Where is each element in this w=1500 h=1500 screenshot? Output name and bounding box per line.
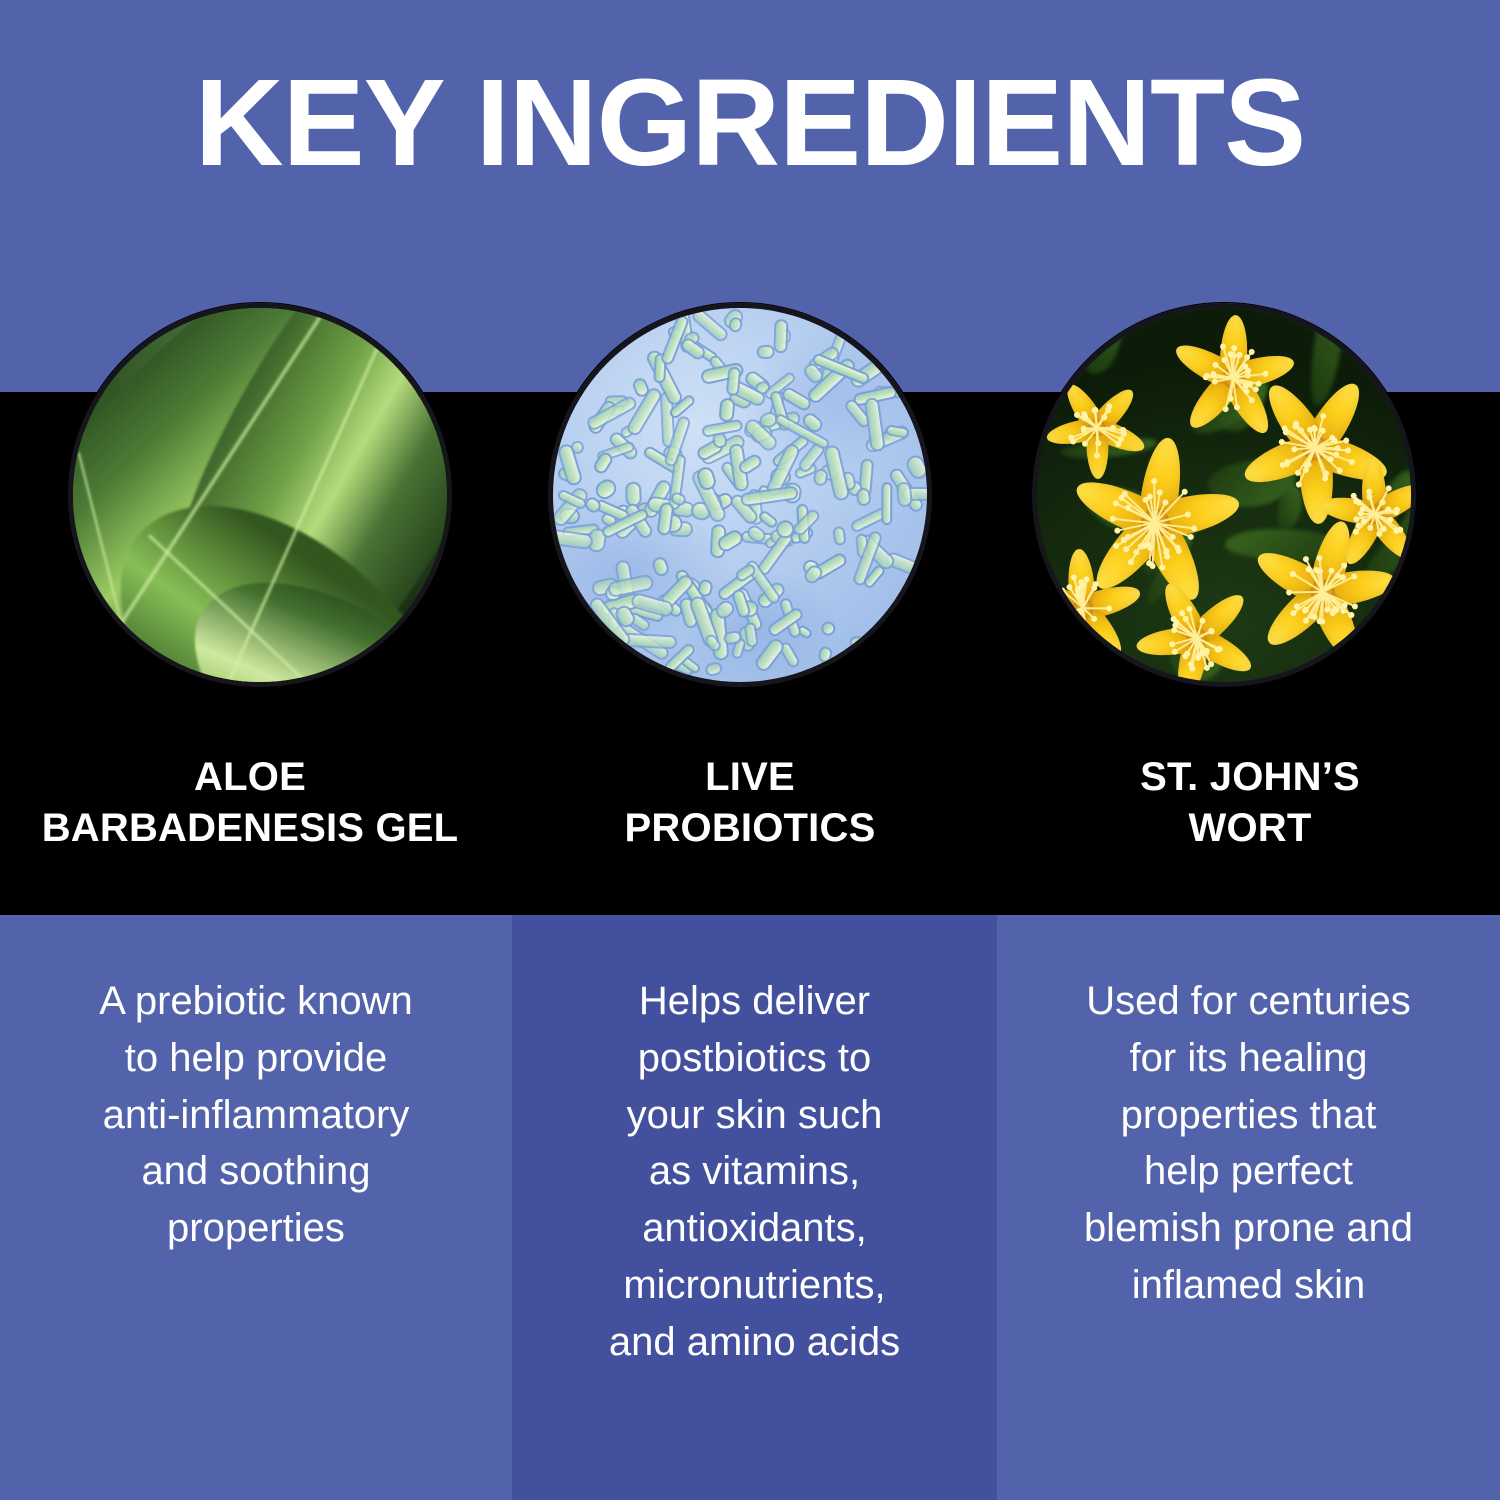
description-text-wort: Used for centuries for its healing prope…	[1084, 973, 1413, 1500]
ingredient-name-cell-wort: ST. JOHN’S WORT	[1000, 752, 1500, 915]
bacteria-cell	[756, 344, 774, 358]
ingredient-names-row: ALOE BARBADENESIS GEL LIVE PROBIOTICS ST…	[0, 752, 1500, 915]
description-panel-aloe: A prebiotic known to help provide anti-i…	[0, 915, 512, 1500]
key-ingredients-infographic: KEY INGREDIENTS	[0, 0, 1500, 1500]
ingredient-descriptions-row: A prebiotic known to help provide anti-i…	[0, 915, 1500, 1500]
probiotics-image-canvas	[553, 308, 927, 682]
description-panel-probiotics: Helps deliver postbiotics to your skin s…	[512, 915, 997, 1500]
ingredient-name-wort: ST. JOHN’S WORT	[1140, 752, 1360, 854]
bacteria-cell	[773, 319, 788, 353]
bacteria-cell	[856, 487, 871, 506]
aloe-leaves-photo	[68, 303, 452, 687]
foliage-leaf	[1335, 304, 1406, 351]
ingredient-name-cell-aloe: ALOE BARBADENESIS GEL	[0, 752, 500, 915]
wort-image-canvas	[1037, 308, 1411, 682]
ingredient-name-cell-probiotics: LIVE PROBIOTICS	[500, 752, 1000, 915]
flower-stamen	[1083, 607, 1108, 609]
st-johns-wort-yellow-flowers-photo	[1032, 303, 1416, 687]
description-panel-wort: Used for centuries for its healing prope…	[997, 915, 1500, 1500]
page-title: KEY INGREDIENTS	[195, 62, 1305, 185]
ingredient-name-aloe: ALOE BARBADENESIS GEL	[42, 752, 459, 854]
description-text-probiotics: Helps deliver postbiotics to your skin s…	[609, 973, 900, 1500]
bacteria-cell	[881, 482, 893, 525]
probiotic-bacteria-micrograph-photo	[548, 303, 932, 687]
description-text-aloe: A prebiotic known to help provide anti-i…	[99, 973, 413, 1500]
aloe-image-canvas	[73, 308, 447, 682]
bacteria-cell	[896, 481, 913, 507]
ingredient-name-probiotics: LIVE PROBIOTICS	[625, 752, 876, 854]
foliage-leaf	[1075, 303, 1125, 375]
